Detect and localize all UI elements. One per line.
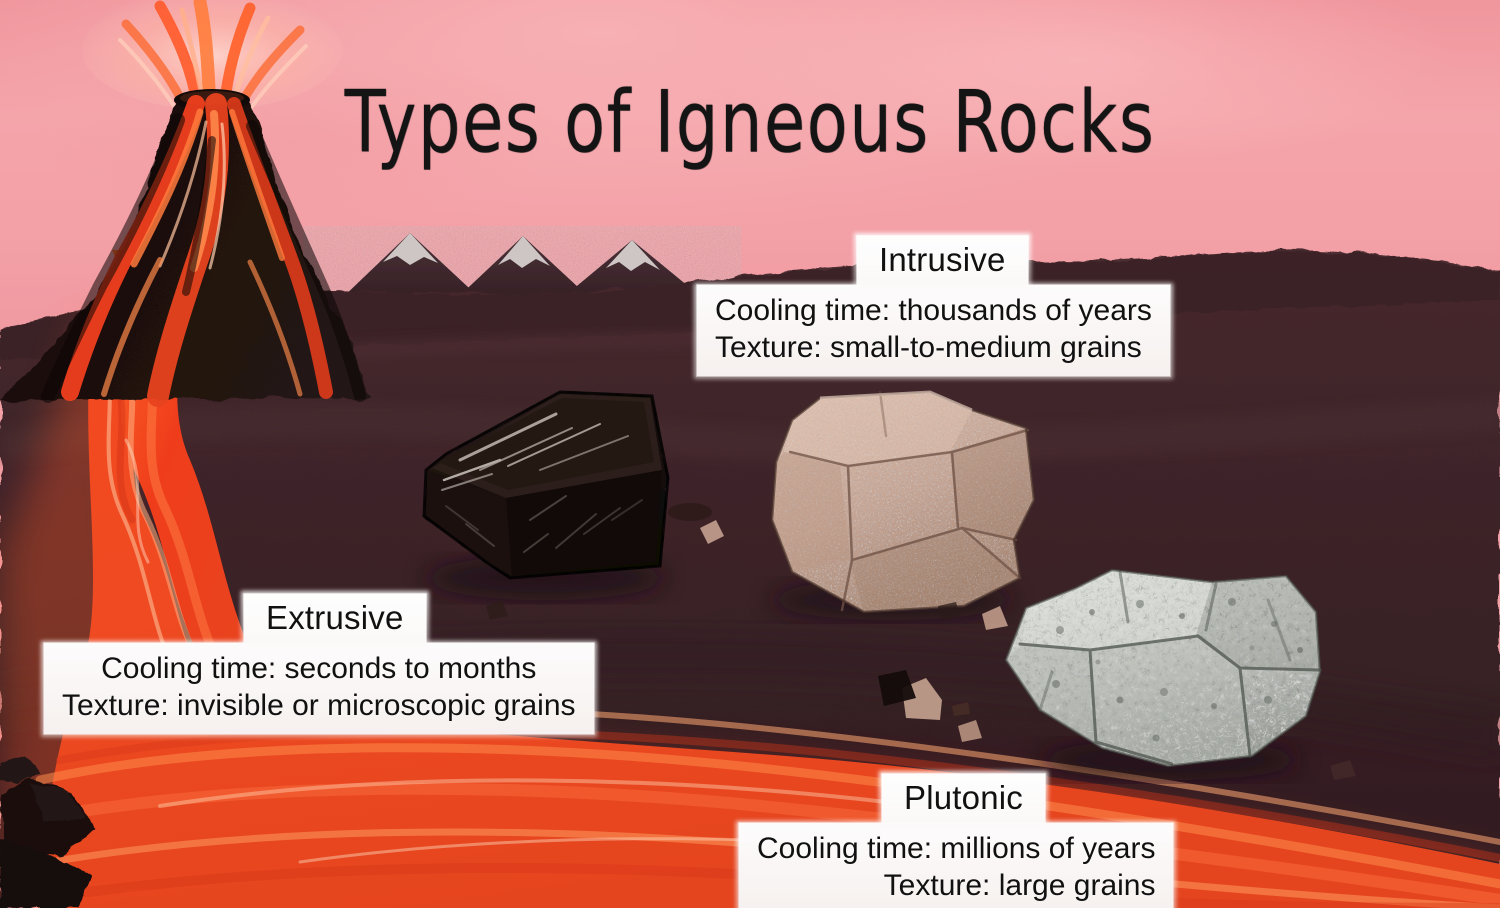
intrusive-rock-specimen <box>770 392 1034 620</box>
label-extrusive-line-1: Cooling time: seconds to months <box>62 651 576 688</box>
label-extrusive-heading: Extrusive <box>244 594 426 643</box>
label-plutonic-line-2: Texture: large grains <box>757 868 1155 905</box>
label-intrusive-line-1: Cooling time: thousands of years <box>715 293 1152 330</box>
label-plutonic: Plutonic Cooling time: millions of years… <box>739 774 1173 908</box>
label-intrusive-line-2: Texture: small-to-medium grains <box>715 330 1152 367</box>
label-intrusive-heading: Intrusive <box>857 236 1028 285</box>
label-extrusive-body: Cooling time: seconds to months Texture:… <box>44 643 594 734</box>
label-intrusive: Intrusive Cooling time: thousands of yea… <box>697 236 1170 376</box>
infographic-canvas: Types of Igneous Rocks Intrusive Cooling… <box>0 0 1500 908</box>
label-intrusive-body: Cooling time: thousands of years Texture… <box>697 285 1170 376</box>
label-plutonic-heading: Plutonic <box>882 774 1045 823</box>
label-plutonic-line-1: Cooling time: millions of years <box>757 831 1155 868</box>
label-plutonic-body: Cooling time: millions of years Texture:… <box>739 823 1173 908</box>
label-extrusive: Extrusive Cooling time: seconds to month… <box>44 594 594 734</box>
page-title: Types of Igneous Rocks <box>30 72 1470 172</box>
label-extrusive-line-2: Texture: invisible or microscopic grains <box>62 688 576 725</box>
